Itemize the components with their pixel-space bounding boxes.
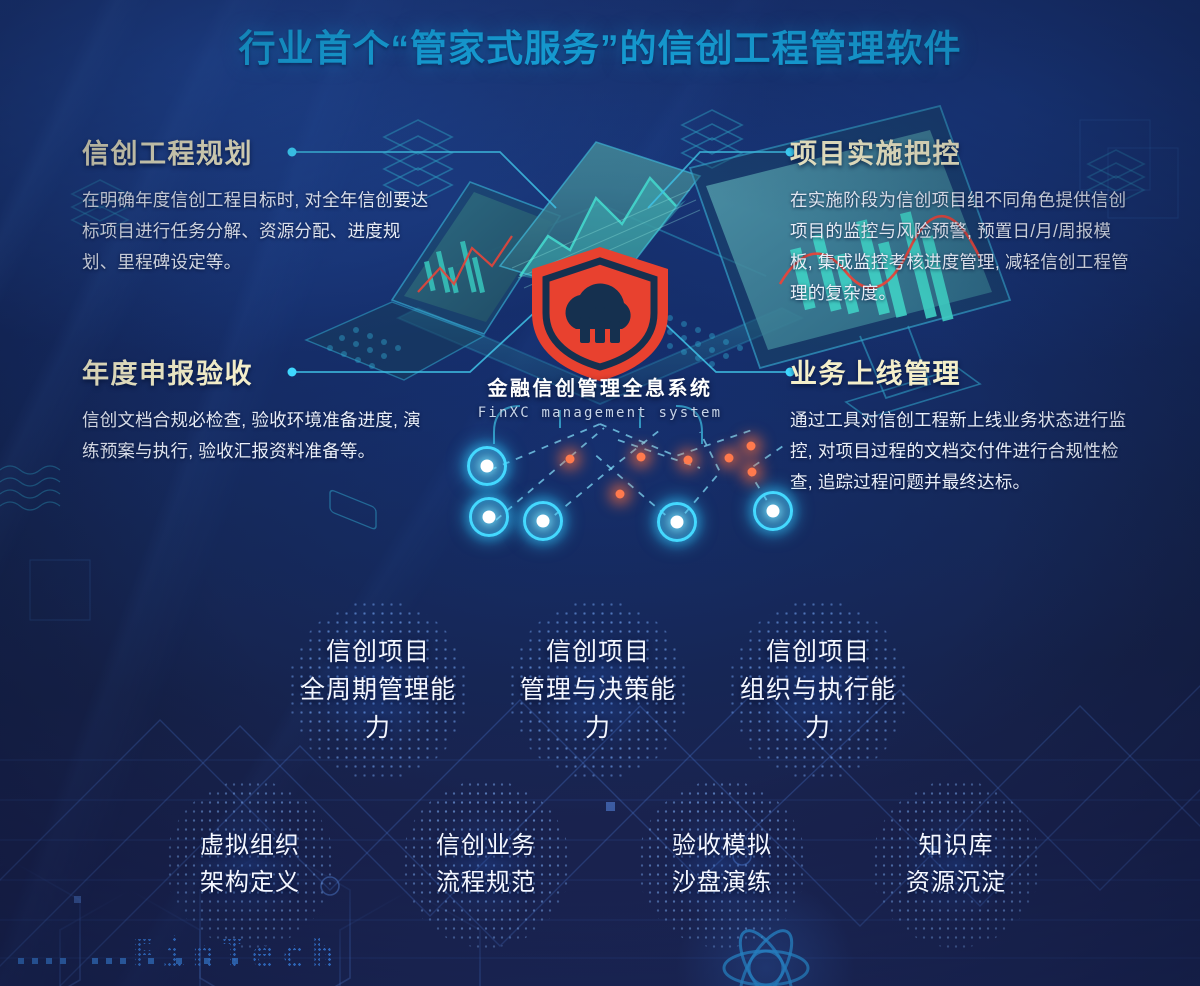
fintech-watermark-text: FinTech [132, 932, 341, 976]
network-node [469, 497, 509, 537]
capability-sphere-knowledge-base: 知识库 资源沉淀 [872, 780, 1040, 948]
data-spark [637, 453, 646, 462]
feature-body: 在实施阶段为信创项目组不同角色提供信创项目的监控与风险预警, 预置日/月/周报模… [790, 185, 1130, 309]
data-spark [566, 455, 575, 464]
system-name-en: FinXC management system [0, 405, 1200, 421]
feature-block-implementation-control: 项目实施把控 在实施阶段为信创项目组不同角色提供信创项目的监控与风险预警, 预置… [790, 132, 1130, 309]
network-node [523, 501, 563, 541]
data-spark [616, 490, 625, 499]
feature-heading: 信创工程规划 [82, 132, 432, 171]
network-node [753, 491, 793, 531]
fintech-watermark: FinTech [132, 932, 341, 976]
system-caption: 金融信创管理全息系统 FinXC management system [0, 372, 1200, 421]
capability-sphere-execution: 信创项目 组织与执行能力 [728, 600, 908, 780]
data-spark [747, 442, 756, 451]
capability-label: 知识库 资源沉淀 [906, 827, 1006, 901]
data-spark [684, 456, 693, 465]
capability-sphere-decision: 信创项目 管理与决策能力 [508, 600, 688, 780]
network-node [657, 502, 697, 542]
capability-sphere-acceptance-drill: 验收模拟 沙盘演练 [638, 780, 806, 948]
infographic-canvas: 信创工程规划 在明确年度信创工程目标时, 对全年信创要达标项目进行任务分解、资源… [0, 0, 1200, 986]
capability-label: 信创项目 全周期管理能力 [288, 633, 468, 747]
capability-sphere-business-process: 信创业务 流程规范 [402, 780, 570, 948]
capability-label: 信创项目 管理与决策能力 [508, 633, 688, 747]
feature-body: 在明确年度信创工程目标时, 对全年信创要达标项目进行任务分解、资源分配、进度规划… [82, 185, 432, 278]
page-title: 行业首个“管家式服务”的信创工程管理软件 [0, 18, 1200, 72]
capability-sphere-virtual-org: 虚拟组织 架构定义 [166, 780, 334, 948]
capability-label: 虚拟组织 架构定义 [200, 827, 300, 901]
capability-sphere-lifecycle: 信创项目 全周期管理能力 [288, 600, 468, 780]
system-name-cn: 金融信创管理全息系统 [0, 372, 1200, 401]
network-node [467, 446, 507, 486]
data-spark [748, 468, 757, 477]
data-spark [725, 454, 734, 463]
feature-heading: 项目实施把控 [790, 132, 1130, 171]
capability-label: 验收模拟 沙盘演练 [672, 827, 772, 901]
capability-label: 信创业务 流程规范 [436, 827, 536, 901]
shield-cloud-chart-icon [518, 243, 682, 383]
capability-label: 信创项目 组织与执行能力 [728, 633, 908, 747]
feature-block-planning: 信创工程规划 在明确年度信创工程目标时, 对全年信创要达标项目进行任务分解、资源… [82, 132, 432, 278]
